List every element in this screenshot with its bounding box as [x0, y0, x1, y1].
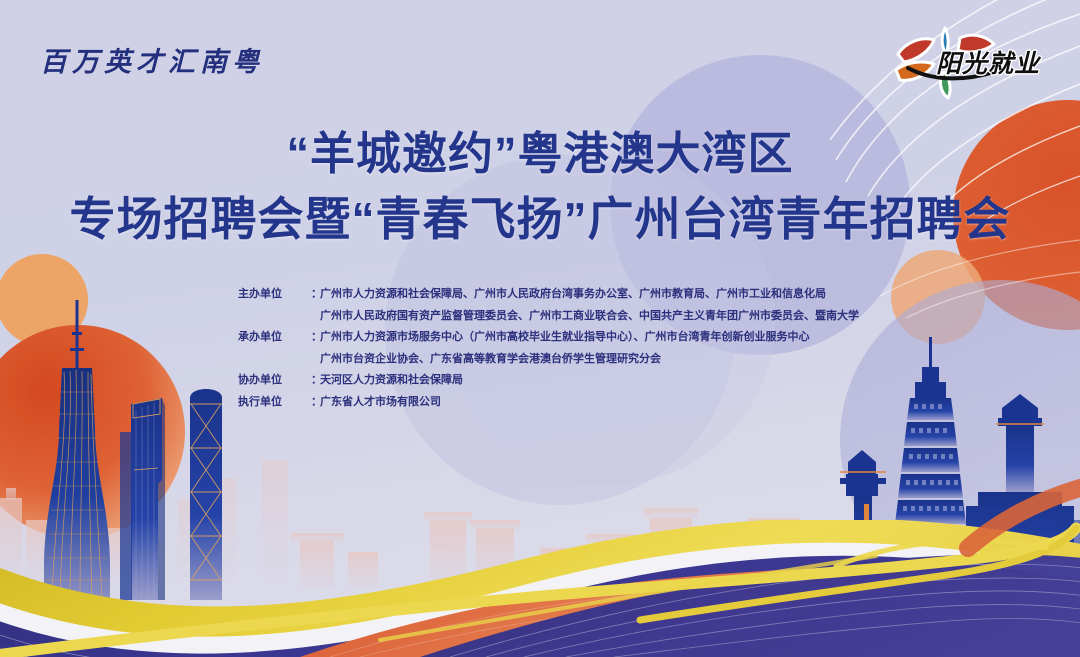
credit-values: 天河区人力资源和社会保障局 [320, 370, 463, 392]
poster-canvas: 百万英才汇南粤 阳光就业 “羊城邀约”粤港澳大湾区 专场招聘会暨“青春飞扬”广州… [0, 0, 1080, 657]
title-line-2: 专场招聘会暨“青春飞扬”广州台湾青年招聘会 [0, 190, 1080, 248]
credit-label: 执行单位 [238, 392, 311, 414]
guangzhou-ifc-tower-icon [190, 389, 222, 600]
credit-row-executor: 执行单位 ： 广东省人才市场有限公司 [238, 392, 859, 414]
credit-line: 天河区人力资源和社会保障局 [320, 370, 463, 392]
credit-label: 协办单位 [238, 370, 311, 392]
credit-line: 广东省人才市场有限公司 [320, 392, 441, 414]
logo-text: 阳光就业 [936, 44, 1040, 80]
credit-line: 广州市台资企业协会、广东省高等教育学会港澳台侨学生管理研究分会 [320, 349, 810, 371]
credit-colon: ： [311, 284, 320, 306]
credit-line: 广州市人力资源和社会保障局、广州市人民政府台湾事务办公室、广州市教育局、广州市工… [320, 284, 859, 306]
sunshine-employment-logo: 阳光就业 [890, 18, 1050, 100]
credit-colon: ： [311, 392, 320, 414]
guangzhou-ctf-tower-icon [131, 398, 165, 600]
guangzhou-west-tower-icon [120, 432, 132, 600]
title-line-1: “羊城邀约”粤港澳大湾区 [0, 126, 1080, 182]
petal-red-left [898, 39, 934, 62]
credit-colon: ： [311, 327, 320, 349]
credit-row-organizer: 承办单位 ： 广州市人力资源市场服务中心（广州市高校毕业生就业指导中心）、广州市… [238, 327, 859, 370]
credit-values: 广州市人力资源市场服务中心（广州市高校毕业生就业指导中心）、广州市台湾青年创新创… [320, 327, 810, 370]
credit-colon: ： [311, 370, 320, 392]
credit-values: 广东省人才市场有限公司 [320, 392, 441, 414]
credit-line: 广州市人力资源市场服务中心（广州市高校毕业生就业指导中心）、广州市台湾青年创新创… [320, 327, 810, 349]
slogan-text: 百万英才汇南粤 [40, 40, 264, 79]
title-block: “羊城邀约”粤港澳大湾区 专场招聘会暨“青春飞扬”广州台湾青年招聘会 [0, 126, 1080, 248]
credit-values: 广州市人力资源和社会保障局、广州市人民政府台湾事务办公室、广州市教育局、广州市工… [320, 284, 859, 327]
credit-row-host: 主办单位 ： 广州市人力资源和社会保障局、广州市人民政府台湾事务办公室、广州市教… [238, 284, 859, 327]
credit-label: 主办单位 [238, 284, 311, 306]
organizer-credits: 主办单位 ： 广州市人力资源和社会保障局、广州市人民政府台湾事务办公室、广州市教… [238, 284, 859, 413]
credit-line: 广州市人民政府国有资产监督管理委员会、广州市工商业联合会、中国共产主义青年团广州… [320, 306, 859, 328]
credit-label: 承办单位 [238, 327, 311, 349]
credit-row-coorganizer: 协办单位 ： 天河区人力资源和社会保障局 [238, 370, 859, 392]
